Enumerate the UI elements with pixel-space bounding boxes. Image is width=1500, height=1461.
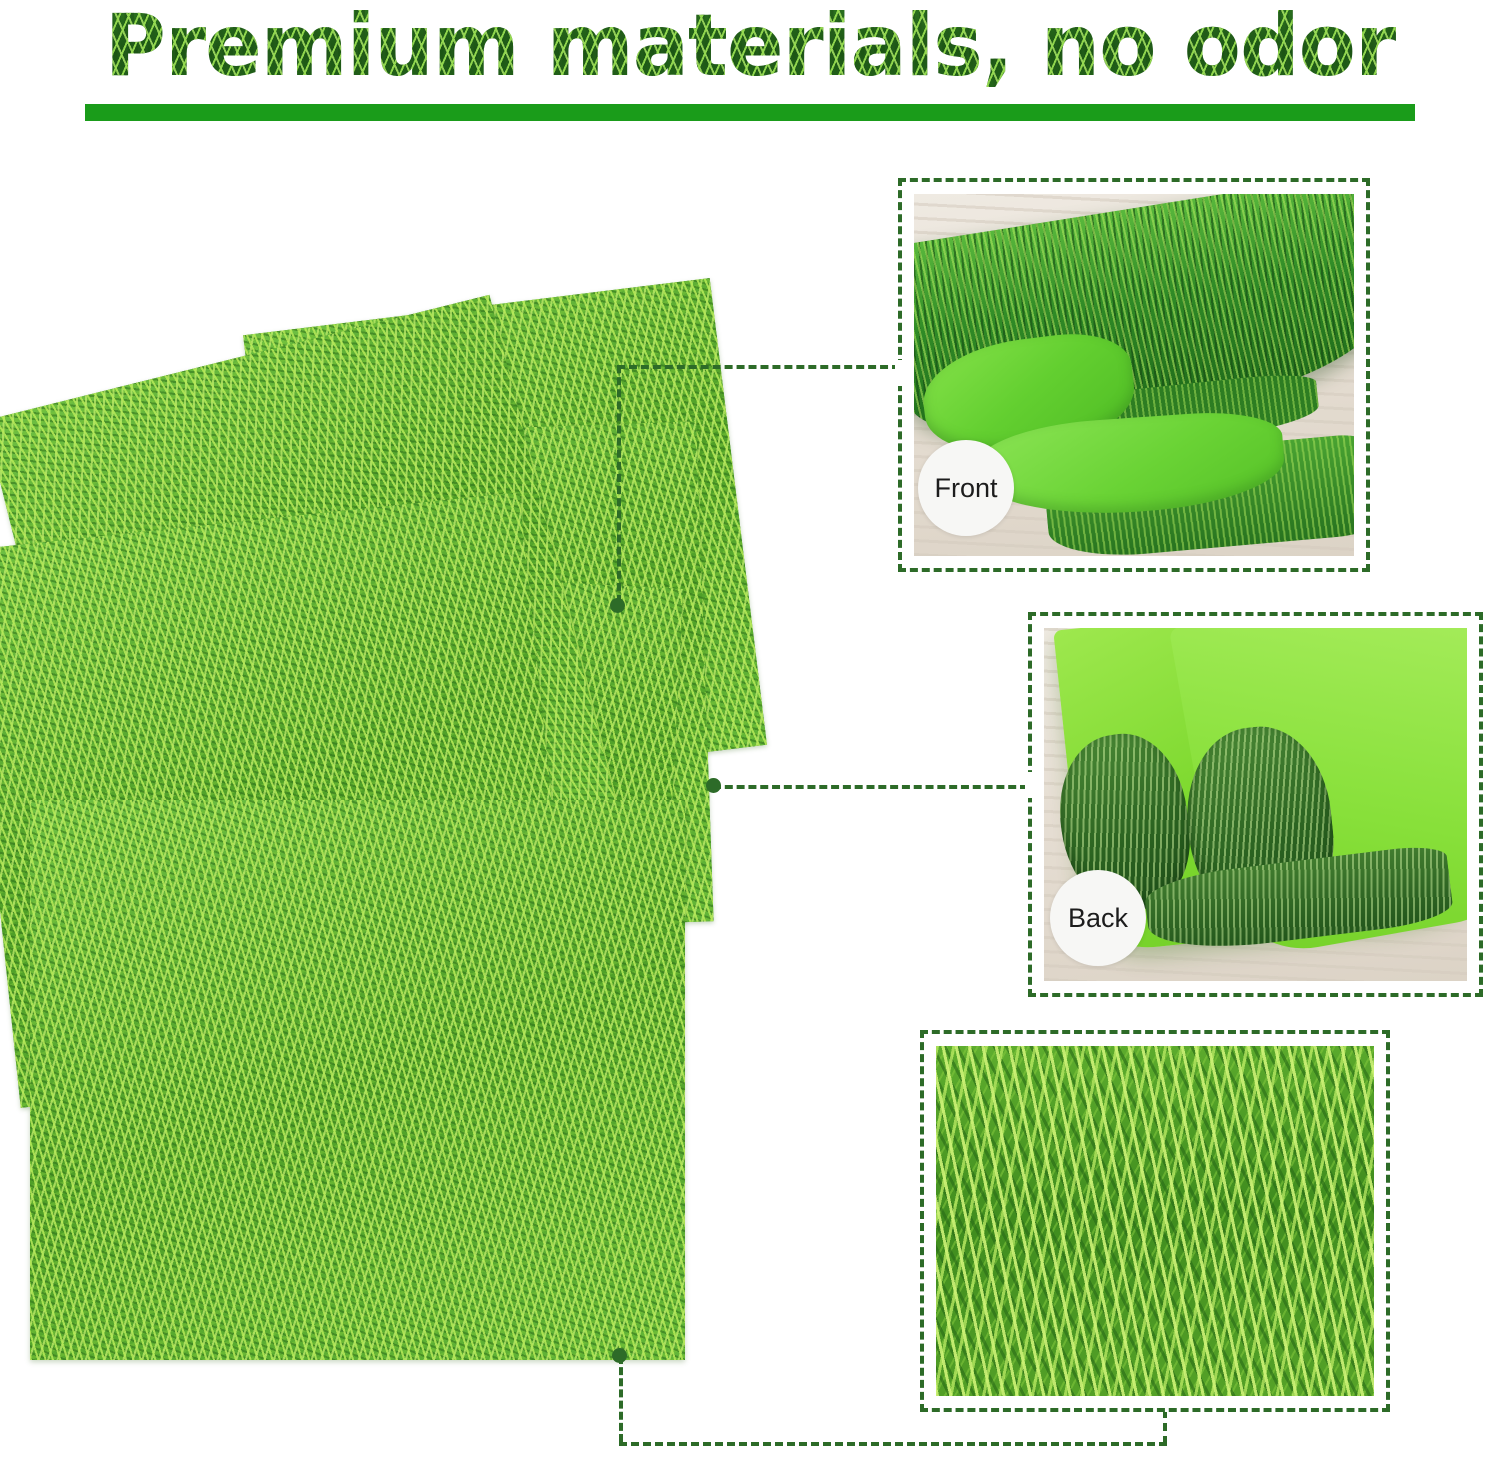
frame-connector-notch (895, 360, 905, 386)
badge-back: Back (1050, 870, 1146, 966)
badge-front-label: Front (934, 473, 997, 504)
grass-closeup-photo (936, 1046, 1374, 1396)
connector-line-closeup-riser (1163, 1410, 1167, 1444)
connector-line-front-vertical (617, 365, 621, 603)
connector-line-front-horizontal (617, 365, 900, 369)
callout-panel-closeup (920, 1030, 1390, 1412)
grass-blades-texture (936, 1046, 1374, 1396)
connector-line-closeup-vertical (619, 1356, 623, 1442)
page-title: Premium materials, no odor (23, 0, 1478, 98)
product-feature-image: Premium materials, no odor Front (0, 0, 1500, 1461)
callout-panel-back: Back (1028, 612, 1483, 997)
callout-panel-front: Front (898, 178, 1370, 572)
badge-back-label: Back (1068, 903, 1128, 934)
headline-block: Premium materials, no odor (0, 0, 1500, 132)
connector-line-back-horizontal (713, 785, 1028, 789)
grass-mat-sheet (30, 800, 685, 1360)
connector-line-closeup-horizontal (619, 1442, 1167, 1446)
frame-connector-notch (1025, 772, 1035, 798)
headline-underline-bar (85, 104, 1415, 121)
grass-mat-stack (0, 245, 790, 1385)
badge-front: Front (918, 440, 1014, 536)
